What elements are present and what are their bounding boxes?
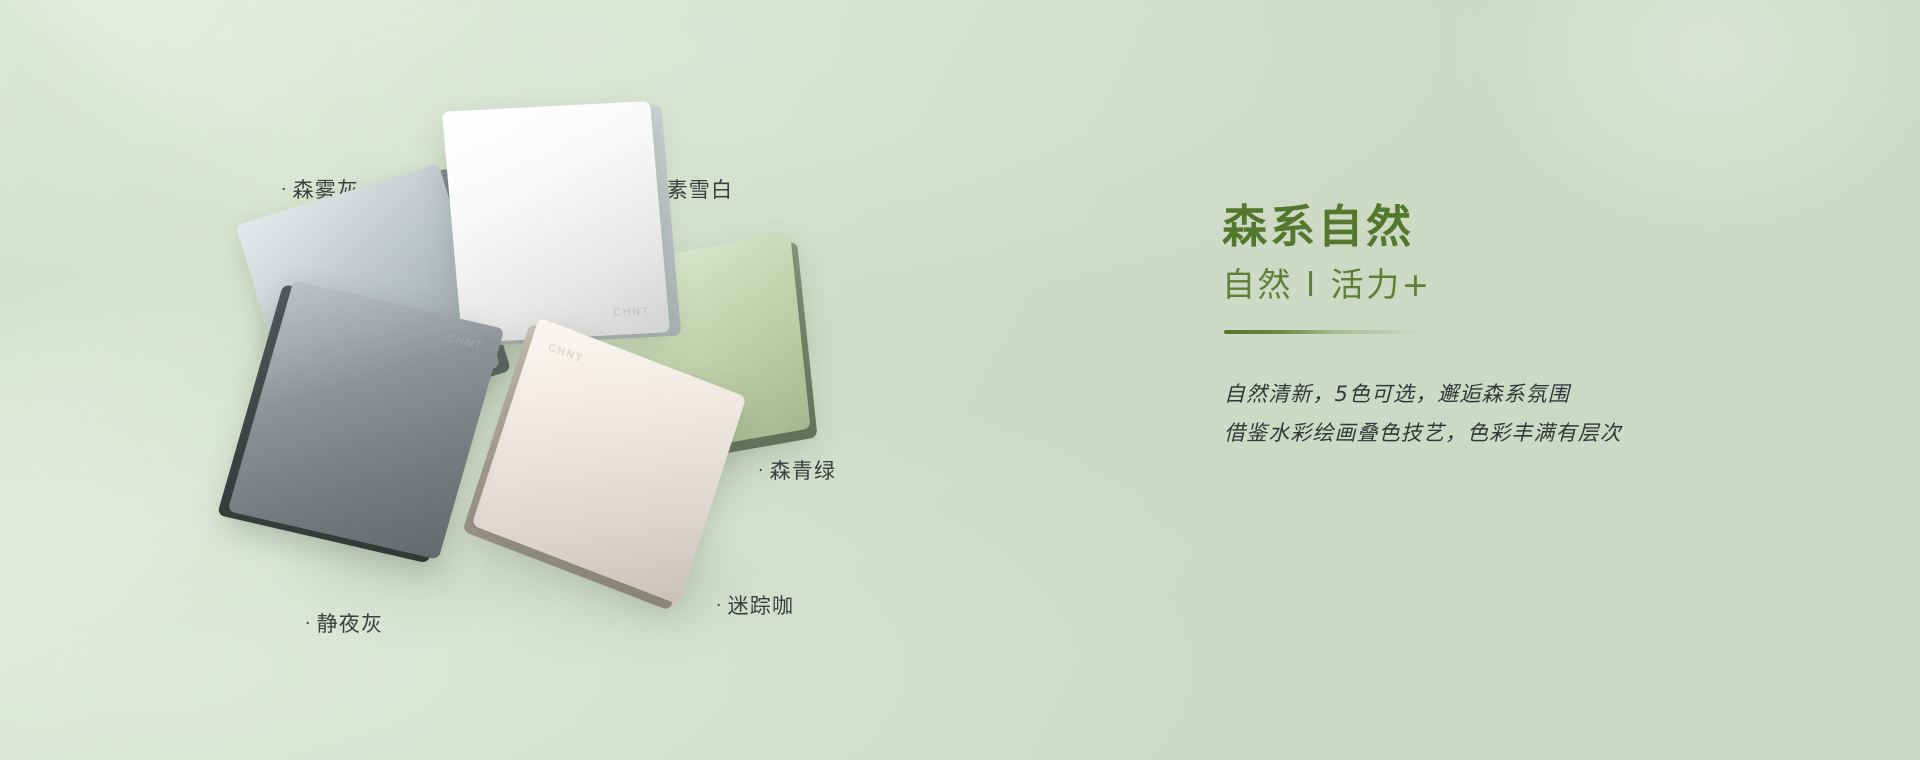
bullet-dot-icon: · xyxy=(758,461,765,481)
marketing-copy-block: 森系自然 自然 l 活力+ 自然清新，5色可选，邂逅森系氛围 借鉴水彩绘画叠色技… xyxy=(1222,0,1862,760)
bullet-dot-icon: · xyxy=(305,614,312,634)
bullet-dot-icon: · xyxy=(281,180,288,200)
subheadline: 自然 l 活力+ xyxy=(1222,258,1432,306)
hero-banner: CHNT CHNT CHNT CHNT xyxy=(0,0,1920,760)
headline: 森系自然 xyxy=(1222,190,1414,255)
bullet-dot-icon: · xyxy=(716,596,723,616)
divider-rule xyxy=(1224,330,1424,334)
swatch-label-text: 静夜灰 xyxy=(317,612,384,636)
swatch-label-senqinglv: ·森青绿 xyxy=(758,455,836,485)
product-panel-group: CHNT CHNT CHNT CHNT xyxy=(0,0,980,760)
swatch-label-jingyehui: ·静夜灰 xyxy=(305,608,383,638)
body-text-line-1: 自然清新，5色可选，邂逅森系氛围 xyxy=(1224,378,1570,408)
swatch-label-text: 森青绿 xyxy=(770,459,837,483)
body-text-line-2: 借鉴水彩绘画叠色技艺，色彩丰满有层次 xyxy=(1224,417,1622,447)
swatch-label-mizongka: ·迷踪咖 xyxy=(716,590,794,620)
panel-suxuebai[interactable]: CHNT xyxy=(442,101,670,343)
brand-logo-chnt: CHNT xyxy=(613,305,651,319)
panel-body: CHNT xyxy=(442,101,670,343)
swatch-label-text: 素雪白 xyxy=(667,178,734,202)
swatch-label-text: 迷踪咖 xyxy=(728,594,795,618)
